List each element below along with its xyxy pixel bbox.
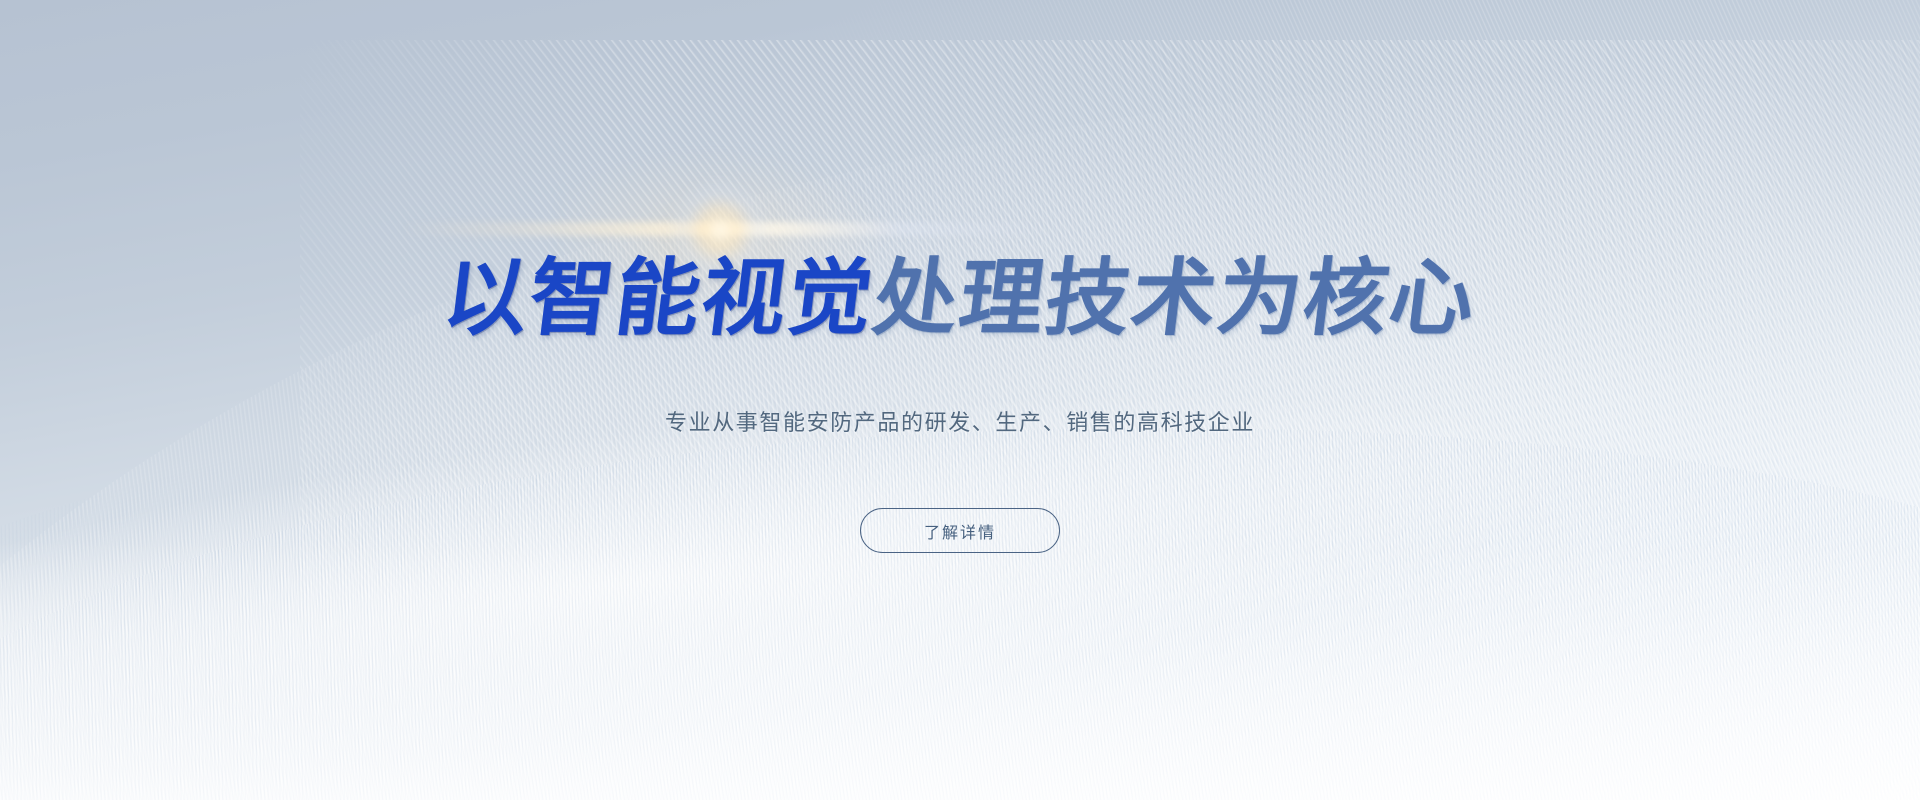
headline-muted-segment: 处理技术为核心: [869, 256, 1481, 340]
hero-banner: 以智能视觉处理技术为核心 专业从事智能安防产品的研发、生产、销售的高科技企业 了…: [0, 0, 1920, 800]
hero-subtitle: 专业从事智能安防产品的研发、生产、销售的高科技企业: [665, 405, 1255, 437]
hero-headline: 以智能视觉处理技术为核心: [444, 256, 1476, 340]
learn-more-button[interactable]: 了解详情: [860, 508, 1060, 553]
hero-content: 以智能视觉处理技术为核心 专业从事智能安防产品的研发、生产、销售的高科技企业 了…: [0, 0, 1920, 800]
headline-accent-segment: 以智能视觉: [439, 256, 879, 340]
